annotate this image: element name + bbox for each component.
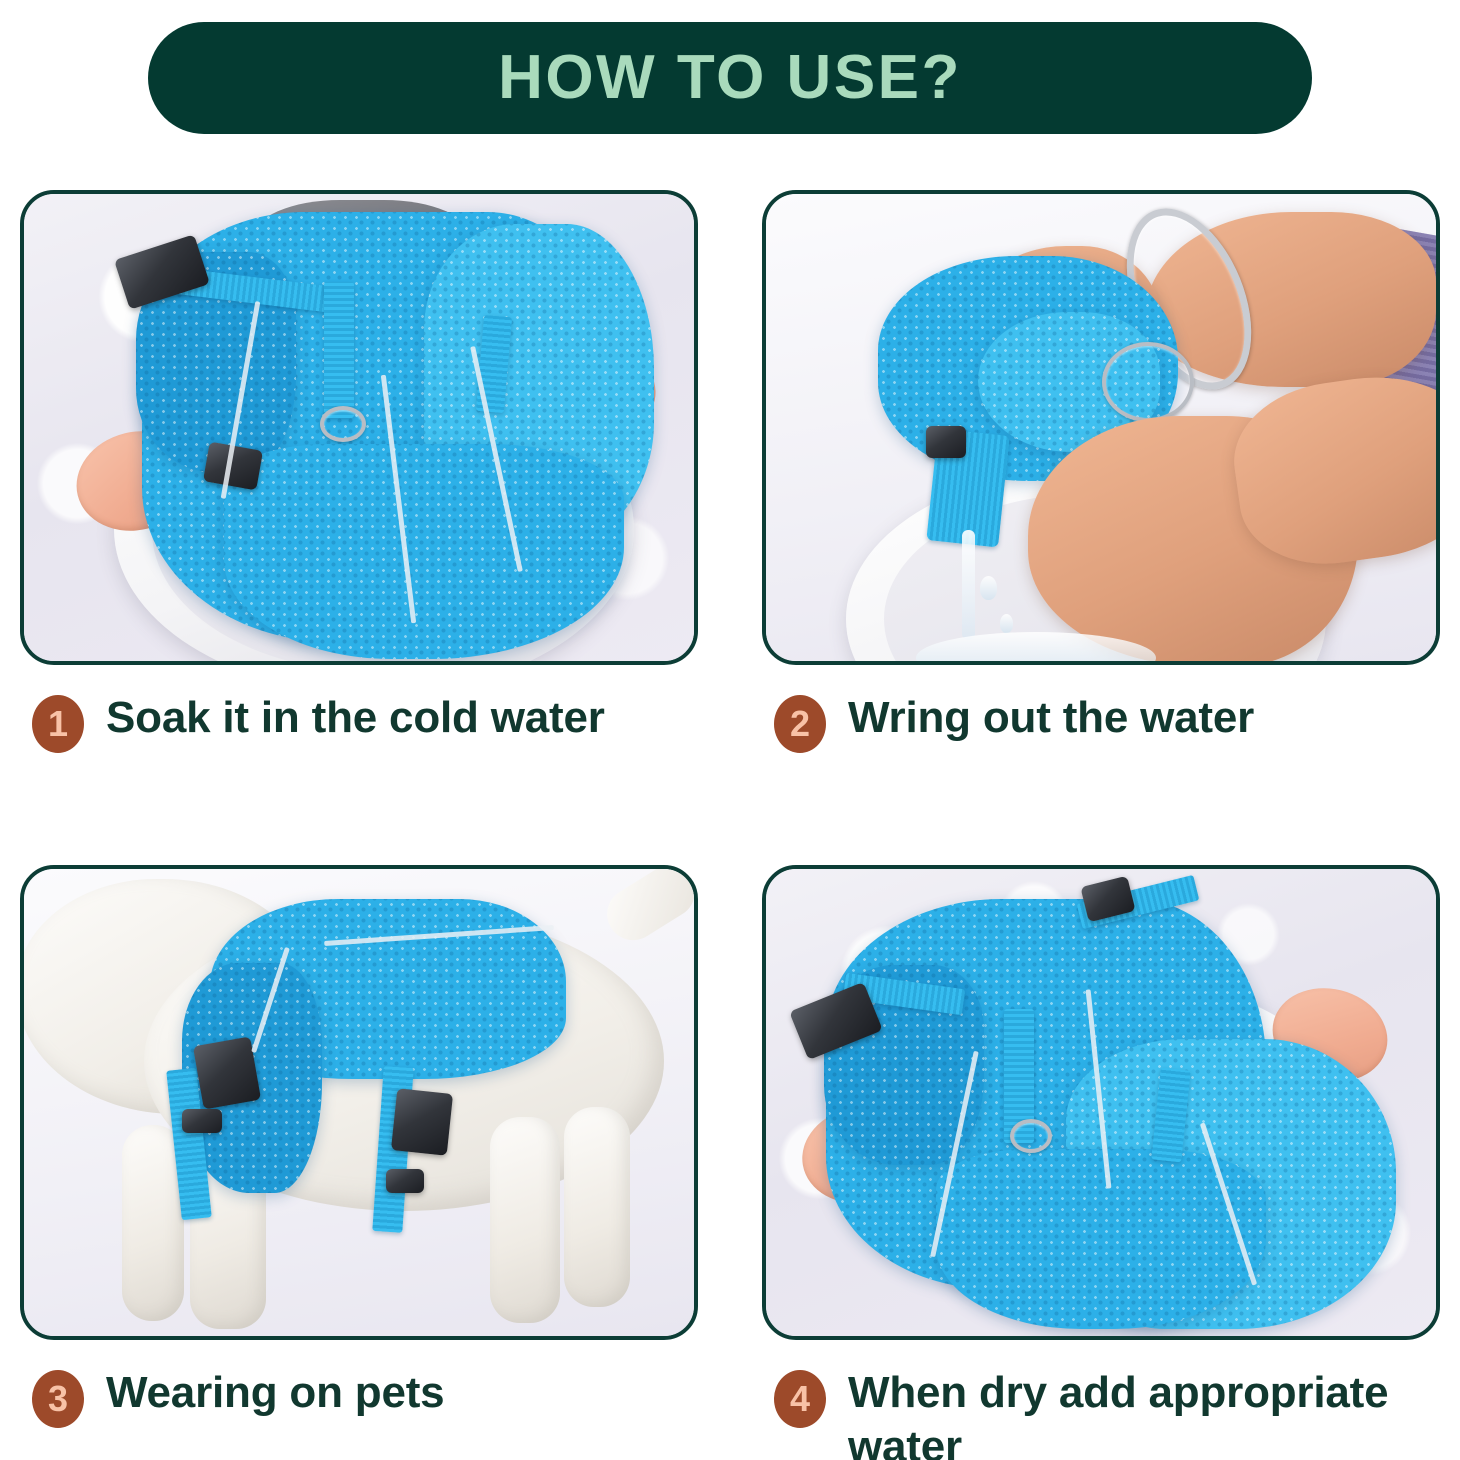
dog-leg-back-right (564, 1107, 630, 1307)
step-number-badge-2: 2 (774, 695, 826, 753)
step-number-badge-3: 3 (32, 1370, 84, 1428)
step-caption-row-3: 3 Wearing on pets (20, 1366, 698, 1428)
step-card-2: 2 Wring out the water (762, 190, 1440, 753)
worn-harness-buckle-front (193, 1036, 261, 1109)
dog-leg-back-left (490, 1117, 560, 1323)
step-card-1: 1 Soak it in the cold water (20, 190, 698, 753)
water-stream (962, 530, 975, 640)
step-caption-row-1: 1 Soak it in the cold water (20, 691, 698, 753)
step-photo-frame-4 (762, 865, 1440, 1340)
page-title: HOW TO USE? (498, 47, 962, 109)
step-photo-frame-3 (20, 865, 698, 1340)
step-caption-text-4: When dry add appropriate water (848, 1366, 1440, 1460)
water-droplet-1 (980, 576, 997, 600)
worn-harness-buckle-belly (391, 1088, 453, 1156)
step-caption-row-4: 4 When dry add appropriate water (762, 1366, 1440, 1460)
worn-harness-slider-front (182, 1109, 222, 1133)
how-to-use-infographic: HOW TO USE? (0, 0, 1460, 1460)
water-droplet-2 (1000, 614, 1013, 633)
harness-mesh-skirt (224, 444, 624, 659)
step-caption-text-3: Wearing on pets (106, 1366, 444, 1420)
harness-strap-clip (926, 426, 966, 458)
header-banner: HOW TO USE? (148, 22, 1312, 134)
step-card-3: 3 Wearing on pets (20, 865, 698, 1428)
step-card-4: 4 When dry add appropriate water (762, 865, 1440, 1460)
step-photo-frame-1 (20, 190, 698, 665)
step-caption-text-1: Soak it in the cold water (106, 691, 605, 745)
harness-metal-ring (1102, 342, 1194, 422)
step-caption-text-2: Wring out the water (848, 691, 1254, 745)
harness-d-ring-strap (324, 282, 354, 418)
harness-d-ring (320, 406, 366, 442)
step-number-badge-1: 1 (32, 695, 84, 753)
harness-d-ring-2 (1010, 1119, 1052, 1153)
step-photo-frame-2 (762, 190, 1440, 665)
step-number-badge-4: 4 (774, 1370, 826, 1428)
photo-wearing-on-pets (24, 869, 694, 1336)
steps-grid: 1 Soak it in the cold water (0, 190, 1460, 1460)
worn-harness-slider-belly (386, 1169, 424, 1193)
photo-when-dry-add-water (766, 869, 1436, 1336)
photo-soak-in-cold-water (24, 194, 694, 661)
step-caption-row-2: 2 Wring out the water (762, 691, 1440, 753)
photo-wring-out-water (766, 194, 1436, 661)
